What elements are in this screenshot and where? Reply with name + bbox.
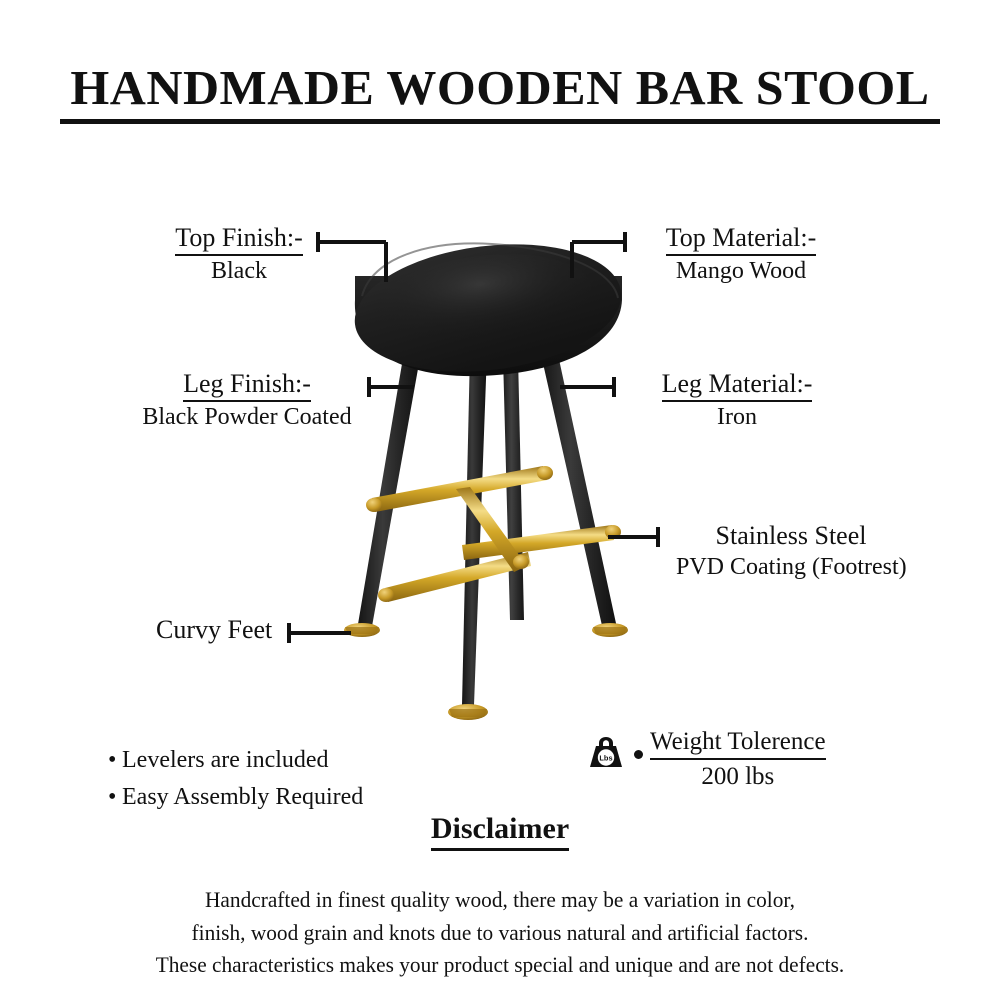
weight-tolerance-value: 200 lbs [650,763,826,791]
callout-top-finish-head: Top Finish:- [175,224,302,256]
callout-curvy-feet-head: Curvy Feet [156,616,272,646]
callout-footrest: Stainless Steel PVD Coating (Footrest) [676,522,906,580]
callout-top-finish-value: Black [154,259,324,284]
note-text: Easy Assembly Required [122,784,363,810]
leader-leg-finish [369,377,414,397]
stool-leg-front-center [503,356,524,620]
callout-leg-finish-head: Leg Finish:- [183,370,311,402]
leader-leg-material [560,377,614,397]
weight-text-group: Weight Tolerence 200 lbs [650,728,826,791]
weight-bullet-dot [634,750,643,759]
list-item: •Levelers are included [108,742,363,779]
leader-top-finish [318,232,386,282]
callout-footrest-value: PVD Coating (Footrest) [676,555,906,580]
callout-curvy-feet: Curvy Feet [156,616,282,646]
callout-leg-finish: Leg Finish:- Black Powder Coated [128,370,366,430]
leader-footrest [608,527,658,547]
note-text: Levelers are included [122,747,329,773]
disclaimer-body: Handcrafted in finest quality wood, ther… [15,884,985,982]
stool-leveler-feet [344,623,628,720]
infographic-page: HANDMADE WOODEN BAR STOOL [0,0,1000,1000]
leader-curvy-feet [289,623,351,643]
weight-tolerance-block: Lbs Weight Tolerence 200 lbs [586,728,826,791]
title-underline-rule [60,119,940,124]
callout-leg-material-head: Leg Material:- [662,370,813,402]
notes-list: •Levelers are included •Easy Assembly Re… [108,742,363,816]
callout-top-material: Top Material:- Mango Wood [636,224,846,284]
leveler-foot-front [448,704,488,720]
leader-top-material [572,232,625,278]
weight-icon-label: Lbs [599,753,612,762]
weight-tolerance-title: Weight Tolerence [650,728,826,760]
disclaimer-heading: Disclaimer [431,812,569,851]
bullet-glyph: • [108,742,122,779]
stool-leg-right [540,350,617,630]
disclaimer-line: Handcrafted in finest quality wood, ther… [15,884,985,917]
callout-top-finish: Top Finish:- Black [154,224,324,284]
stool-seat [347,230,628,386]
stool-leg-rear [462,352,487,705]
leveler-foot-right [592,623,628,637]
page-title: HANDMADE WOODEN BAR STOOL [51,62,949,113]
title-block: HANDMADE WOODEN BAR STOOL [60,62,940,124]
callout-leg-finish-value: Black Powder Coated [128,405,366,430]
callout-leg-material: Leg Material:- Iron [632,370,842,430]
stool-leg-left [357,352,421,632]
disclaimer-heading-wrap: Disclaimer [0,812,1000,851]
stool-footrest-brass [366,466,621,602]
callout-leg-material-value: Iron [632,405,842,430]
callout-top-material-head: Top Material:- [666,224,817,256]
disclaimer-line: These characteristics makes your product… [15,949,985,982]
callout-footrest-head: Stainless Steel [716,522,867,552]
weight-lbs-icon: Lbs [586,732,626,770]
leveler-foot-left [344,623,380,637]
list-item: •Easy Assembly Required [108,779,363,816]
disclaimer-line: finish, wood grain and knots due to vari… [15,917,985,950]
bullet-glyph: • [108,779,122,816]
callout-top-material-value: Mango Wood [636,259,846,284]
